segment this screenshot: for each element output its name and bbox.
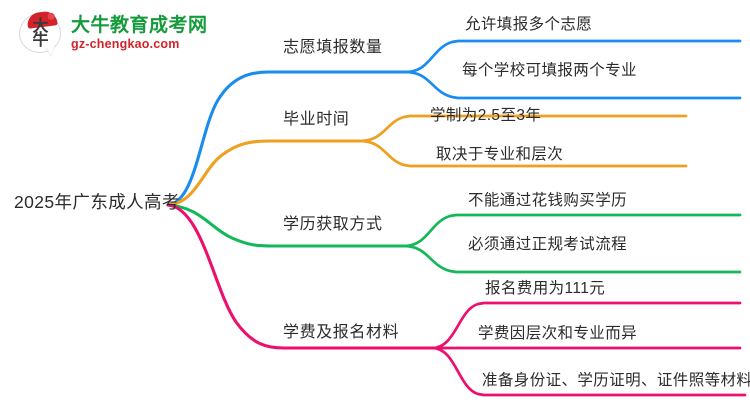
leaf-label-2-1: 学制为2.5至3年 [430,108,541,124]
leaf-label-3-1: 不能通过花钱购买学历 [468,193,627,209]
branch-label-3: 学历获取方式 [283,217,383,233]
leaf-label-3-2: 必须通过正规考试流程 [468,237,627,253]
leaf-label-4-2: 学费因层次和专业而异 [478,326,637,342]
branch-label-1: 志愿填报数量 [283,40,383,56]
leaf-label-4-1: 报名费用为111元 [485,281,605,297]
mindmap-canvas: 大 牛 大牛教育成考网 gz-chengkao.com 2025年广东成人高考 … [0,0,750,410]
leaf-label-1-1: 允许填报多个志愿 [465,17,592,33]
leaf-label-4-3: 准备身份证、学历证明、证件照等材料 [482,373,750,389]
leaf-label-1-2: 每个学校可填报两个专业 [462,63,637,79]
leaf-label-2-2: 取决于专业和层次 [436,147,563,163]
root-node-label: 2025年广东成人高考 [14,194,180,212]
branch-2-trunk [168,141,360,205]
branch-label-4: 学费及报名材料 [283,325,399,341]
branch-label-2: 毕业时间 [283,112,349,128]
